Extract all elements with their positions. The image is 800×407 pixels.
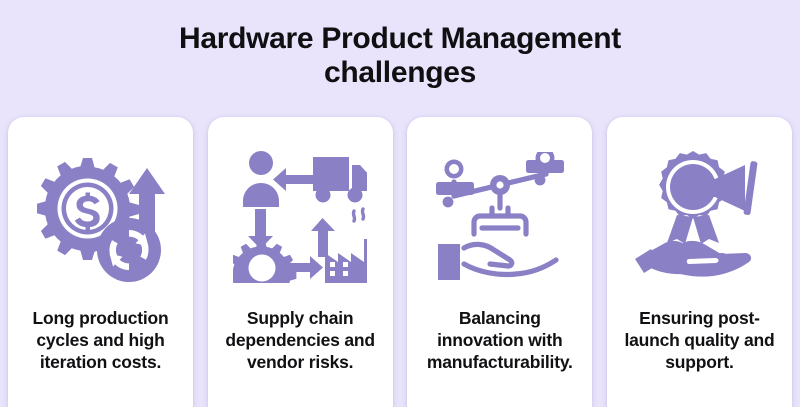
hand-quality-award-icon xyxy=(607,117,792,307)
page-title-line-1: Hardware Product Management xyxy=(0,22,800,56)
challenge-card[interactable]: Long production cycles and high iteratio… xyxy=(8,117,193,407)
challenge-card-list: Long production cycles and high iteratio… xyxy=(8,117,792,407)
supply-chain-cycle-icon xyxy=(208,117,393,307)
challenge-card-text: Balancing innovation with manufacturabil… xyxy=(412,307,587,373)
challenge-card-text: Ensuring post-launch quality and support… xyxy=(612,307,787,373)
challenge-card[interactable]: Ensuring post-launch quality and support… xyxy=(607,117,792,407)
page-title: Hardware Product Management challenges xyxy=(0,22,800,90)
challenge-card[interactable]: Balancing innovation with manufacturabil… xyxy=(407,117,592,407)
challenge-card[interactable]: Supply chain dependencies and vendor ris… xyxy=(208,117,393,407)
gear-dollar-growth-icon xyxy=(8,117,193,307)
challenge-card-text: Supply chain dependencies and vendor ris… xyxy=(213,307,388,373)
hand-balance-scale-icon xyxy=(407,117,592,307)
page-title-line-2: challenges xyxy=(0,56,800,90)
challenge-card-text: Long production cycles and high iteratio… xyxy=(13,307,188,373)
infographic-canvas: Hardware Product Management challenges xyxy=(0,0,800,400)
